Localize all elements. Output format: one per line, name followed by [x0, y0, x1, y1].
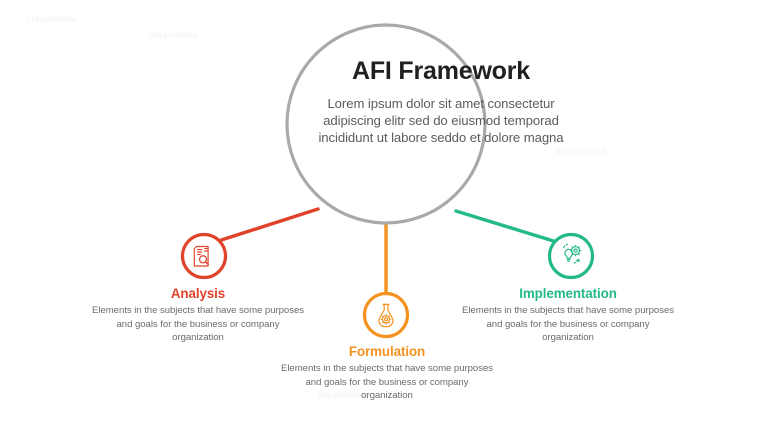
node-circle-analysis[interactable]	[183, 235, 226, 278]
node-block-implementation: Implementation Elements in the subjects …	[462, 286, 674, 345]
node-block-analysis: Analysis Elements in the subjects that h…	[92, 286, 304, 345]
node-title-analysis: Analysis	[92, 286, 304, 301]
hub-text-block: AFI Framework Lorem ipsum dolor sit amet…	[306, 58, 576, 147]
node-description-analysis: Elements in the subjects that have some …	[92, 304, 304, 345]
page-title: AFI Framework	[306, 58, 576, 86]
node-title-formulation: Formulation	[281, 344, 493, 359]
infographic-canvas: dreamstime dreamstime dreamstime dreamst…	[0, 0, 768, 432]
connector-line-analysis	[212, 209, 318, 243]
node-circle-formulation[interactable]	[365, 294, 408, 337]
hub-description: Lorem ipsum dolor sit amet consectetur a…	[306, 95, 576, 147]
node-circle-implementation[interactable]	[550, 235, 593, 278]
node-description-formulation: Elements in the subjects that have some …	[281, 362, 493, 403]
node-block-formulation: Formulation Elements in the subjects tha…	[281, 344, 493, 403]
connector-line-implementation	[456, 211, 560, 243]
node-title-implementation: Implementation	[462, 286, 674, 301]
node-description-implementation: Elements in the subjects that have some …	[462, 304, 674, 345]
